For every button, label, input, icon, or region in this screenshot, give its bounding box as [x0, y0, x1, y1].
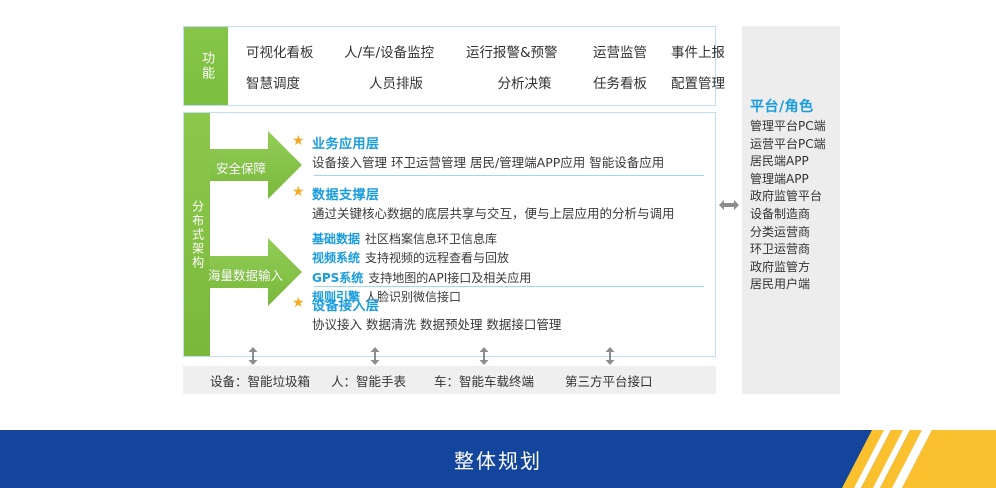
layer-subitem-name: 基础数据	[312, 232, 360, 246]
arrow-label: 海量数据输入	[208, 265, 283, 284]
double-arrow-horizontal-icon	[719, 196, 739, 214]
layer-subitem-text: 支持视频的远程查看与回放	[365, 251, 509, 265]
layer-block-business: ★ 业务应用层 设备接入管理 环卫运营管理 居民/管理端APP应用 智能设备应用	[312, 133, 664, 173]
role-list-item[interactable]: 环卫运营商	[750, 241, 826, 259]
role-list-item[interactable]: 政府监管方	[750, 259, 826, 277]
double-arrow-vertical-icon	[479, 347, 489, 365]
arrow-label: 安全保障	[216, 158, 266, 177]
function-panel: 功能 可视化看板 人/车/设备监控 运行报警&预警 运营监管 事件上报 智慧调度…	[183, 26, 716, 106]
layer-description: 协议接入 数据清洗 数据预处理 数据接口管理	[312, 316, 561, 335]
layer-block-data: ★ 数据支撑层 通过关键核心数据的底层共享与交互，便与上层应用的分析与调用 基础…	[312, 184, 675, 308]
star-icon: ★	[292, 185, 305, 199]
role-panel-list: 管理平台PC端 运营平台PC端 居民端APP 管理端APP 政府监管平台 设备制…	[750, 118, 826, 294]
role-list-item[interactable]: 管理端APP	[750, 171, 826, 189]
role-panel-title: 平台/角色	[750, 96, 814, 116]
layer-subitem-text: 支持地图的API接口及相关应用	[368, 271, 531, 285]
device-bar-item: 车：智能车载终端	[434, 371, 534, 390]
layer-subitem-name: GPS系统	[312, 271, 363, 285]
function-item[interactable]: 运行报警&预警	[466, 41, 593, 61]
function-item[interactable]: 运营监管	[593, 41, 671, 61]
layer-subitem-text: 社区档案信息环卫信息库	[365, 232, 497, 246]
arrow-right-icon: 海量数据输入	[210, 238, 302, 306]
layer-subitem: 基础数据社区档案信息环卫信息库	[312, 230, 675, 249]
double-arrow-vertical-icon	[370, 347, 380, 365]
architecture-side-label: 分布式架构	[190, 200, 203, 270]
layer-subitem: 视频系统支持视频的远程查看与回放	[312, 249, 675, 268]
function-item[interactable]: 智慧调度	[246, 72, 344, 92]
role-panel: 平台/角色 管理平台PC端 运营平台PC端 居民端APP 管理端APP 政府监管…	[742, 26, 840, 394]
star-icon: ★	[292, 134, 305, 148]
architecture-panel: 分布式架构 安全保障 海量数	[183, 112, 716, 357]
layer-title: 设备接入层	[312, 295, 561, 314]
function-item[interactable]: 事件上报	[671, 41, 741, 61]
role-list-item[interactable]: 居民用户端	[750, 276, 826, 294]
function-item[interactable]: 人员排版	[344, 72, 466, 92]
double-arrow-vertical-icon	[248, 347, 258, 365]
bottom-banner: 整体规划	[0, 430, 996, 488]
device-bar-item: 人：智能手表	[331, 371, 406, 390]
arrow-right-icon: 安全保障	[210, 131, 302, 199]
role-list-item[interactable]: 运营平台PC端	[750, 136, 826, 154]
function-item[interactable]: 任务看板	[593, 72, 671, 92]
layer-block-device: ★ 设备接入层 协议接入 数据清洗 数据预处理 数据接口管理	[312, 295, 561, 335]
double-arrow-vertical-icon	[605, 347, 615, 365]
device-bar: 设备：智能垃圾箱 人：智能手表 车：智能车载终端 第三方平台接口	[183, 366, 716, 394]
function-item[interactable]: 分析决策	[466, 72, 593, 92]
role-list-item[interactable]: 设备制造商	[750, 206, 826, 224]
role-list-item[interactable]: 居民端APP	[750, 153, 826, 171]
layer-title: 业务应用层	[312, 133, 664, 152]
function-item[interactable]: 配置管理	[671, 72, 741, 92]
layer-description: 设备接入管理 环卫运营管理 居民/管理端APP应用 智能设备应用	[312, 154, 664, 173]
function-panel-tab: 功能	[184, 27, 228, 105]
star-icon: ★	[292, 296, 305, 310]
function-row-1: 可视化看板 人/车/设备监控 运行报警&预警 运营监管 事件上报	[246, 35, 741, 66]
function-panel-rows: 可视化看板 人/车/设备监控 运行报警&预警 运营监管 事件上报 智慧调度 人员…	[228, 27, 741, 105]
banner-title: 整体规划	[0, 430, 996, 488]
device-bar-item: 第三方平台接口	[565, 371, 653, 390]
function-item[interactable]: 人/车/设备监控	[344, 41, 466, 61]
layer-divider	[314, 286, 704, 287]
role-list-item[interactable]: 管理平台PC端	[750, 118, 826, 136]
function-panel-tab-label: 功能	[199, 51, 213, 81]
layer-description: 通过关键核心数据的底层共享与交互，便与上层应用的分析与调用	[312, 205, 675, 224]
role-list-item[interactable]: 政府监管平台	[750, 188, 826, 206]
function-row-2: 智慧调度 人员排版 分析决策 任务看板 配置管理	[246, 66, 741, 97]
layer-subitem-name: 视频系统	[312, 251, 360, 265]
architecture-side-bar: 分布式架构	[184, 113, 210, 356]
layer-divider	[314, 175, 704, 176]
layer-title: 数据支撑层	[312, 184, 675, 203]
role-list-item[interactable]: 分类运营商	[750, 224, 826, 242]
slide-root: 功能 可视化看板 人/车/设备监控 运行报警&预警 运营监管 事件上报 智慧调度…	[0, 0, 996, 488]
function-item[interactable]: 可视化看板	[246, 41, 344, 61]
device-bar-item: 设备：智能垃圾箱	[210, 371, 310, 390]
